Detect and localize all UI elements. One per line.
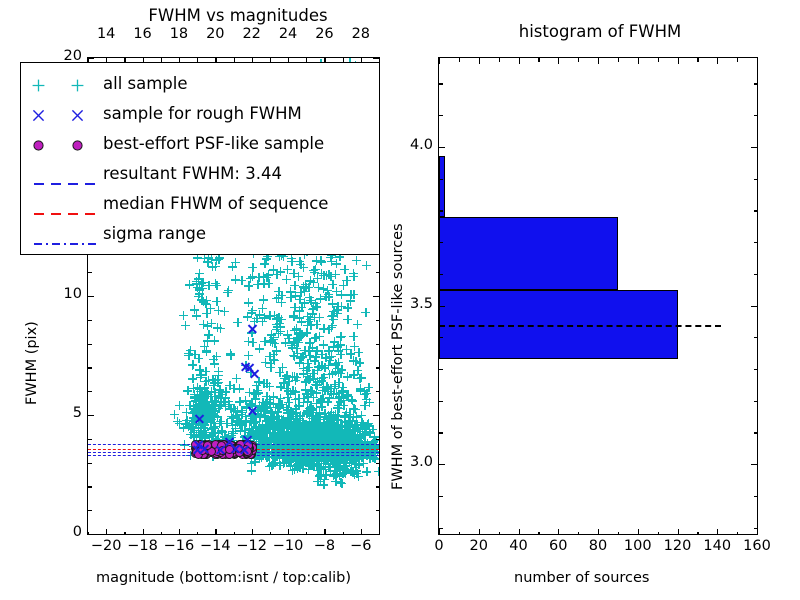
data-point-all-sample — [291, 376, 300, 385]
tick-mark-left-minor — [439, 337, 443, 338]
data-point-all-sample — [203, 337, 212, 346]
tick-mark-bottom — [479, 529, 480, 535]
scatter-x-tick-label: −16 — [160, 538, 198, 554]
data-point-all-sample — [248, 263, 257, 272]
histogram-x-tick-label: 160 — [736, 538, 778, 554]
tick-mark-top-minor — [618, 58, 619, 62]
tick-mark-right-minor — [754, 115, 758, 116]
data-point-all-sample — [303, 321, 312, 330]
data-point-all-sample — [342, 392, 351, 401]
legend-marker-key — [29, 192, 103, 214]
tick-mark-top-minor — [658, 58, 659, 62]
data-point-all-sample — [259, 379, 268, 388]
legend-item-2: best-effort PSF-like sample — [29, 128, 371, 158]
tick-mark-bottom — [678, 529, 679, 535]
data-point-all-sample — [301, 280, 310, 289]
dashed-line-icon — [33, 171, 99, 175]
scatter-x-tick-label: −14 — [196, 538, 234, 554]
plus-icon — [71, 77, 84, 90]
tick-mark-left-minor — [439, 528, 443, 529]
data-point-rough-fwhm — [215, 444, 226, 455]
histogram-bars — [439, 58, 757, 534]
tick-mark-bottom-minor — [197, 532, 198, 536]
data-point-all-sample — [327, 352, 336, 361]
scatter-panel-title: FWHM vs magnitudes — [88, 6, 388, 25]
legend-marker-key — [29, 132, 103, 154]
histogram-bar — [439, 156, 445, 216]
scatter-top-tick-label: 20 — [202, 26, 228, 42]
tick-mark-left — [88, 58, 94, 59]
legend-item-label: all sample — [103, 74, 188, 93]
scatter-top-tick-label: 28 — [348, 26, 374, 42]
legend-item-5: sigma range — [29, 218, 371, 248]
tick-mark-right-minor — [754, 528, 758, 529]
tick-mark-top — [519, 58, 520, 64]
tick-mark-right-minor — [376, 391, 380, 392]
data-point-all-sample — [301, 377, 310, 386]
dot-icon — [32, 137, 45, 150]
histogram-x-tick-label: 140 — [696, 538, 738, 554]
tick-mark-left-minor — [439, 210, 443, 211]
tick-mark-top-minor — [578, 58, 579, 62]
x-icon — [32, 107, 45, 120]
scatter-y-tick-label: 10 — [40, 286, 82, 302]
x-icon — [71, 107, 84, 120]
tick-mark-right-minor — [754, 369, 758, 370]
data-point-all-sample — [314, 431, 323, 440]
tick-mark-right-minor — [754, 274, 758, 275]
data-point-all-sample — [309, 278, 318, 287]
legend-item-3: resultant FWHM: 3.44 — [29, 158, 371, 188]
tick-mark-top-minor — [161, 58, 162, 62]
data-point-all-sample — [175, 419, 184, 428]
scatter-top-tick-label: 22 — [239, 26, 265, 42]
data-point-all-sample — [199, 297, 208, 306]
data-point-all-sample — [342, 408, 351, 417]
scatter-y-tick-label: 0 — [40, 524, 82, 540]
tick-mark-top-minor — [459, 58, 460, 62]
tick-mark-bottom — [439, 529, 440, 535]
plus-icon — [32, 77, 45, 90]
legend-marker-key — [29, 222, 103, 244]
tick-mark-bottom-minor — [379, 532, 380, 536]
data-point-all-sample — [362, 261, 371, 270]
tick-mark-left-minor — [439, 401, 443, 402]
data-point-all-sample — [364, 383, 373, 392]
data-point-all-sample — [199, 320, 208, 329]
tick-mark-right-minor — [376, 320, 380, 321]
data-point-all-sample — [170, 410, 179, 419]
tick-mark-left-minor — [439, 369, 443, 370]
tick-mark-left-minor — [88, 344, 92, 345]
tick-mark-bottom-minor — [578, 532, 579, 536]
tick-mark-right-minor — [754, 242, 758, 243]
tick-mark-right-minor — [754, 210, 758, 211]
data-point-all-sample — [233, 318, 242, 327]
data-point-all-sample — [244, 337, 253, 346]
tick-mark-bottom — [215, 529, 216, 535]
tick-mark-left-minor — [88, 391, 92, 392]
data-point-all-sample — [349, 332, 358, 341]
legend-item-label: sample for rough FWHM — [103, 104, 302, 123]
scatter-top-tick-label: 18 — [166, 26, 192, 42]
tick-mark-right-minor — [376, 486, 380, 487]
histogram-y-tick-label: 4.0 — [389, 137, 433, 153]
tick-mark-right-minor — [376, 510, 380, 511]
data-point-all-sample — [337, 302, 346, 311]
tick-mark-bottom — [361, 529, 362, 535]
data-point-all-sample — [330, 382, 339, 391]
tick-mark-right-minor — [376, 463, 380, 464]
data-point-all-sample — [374, 467, 379, 476]
data-point-all-sample — [353, 320, 362, 329]
data-point-all-sample — [312, 256, 321, 265]
tick-mark-top — [439, 58, 440, 64]
data-point-all-sample — [255, 422, 264, 431]
data-point-all-sample — [357, 373, 366, 382]
data-point-all-sample — [210, 359, 219, 368]
tick-mark-bottom-minor — [499, 532, 500, 536]
tick-mark-right-minor — [376, 272, 380, 273]
data-point-all-sample — [331, 477, 340, 486]
histogram-resultant-fwhm-line — [439, 325, 721, 327]
data-point-all-sample — [320, 475, 329, 484]
data-point-all-sample — [225, 381, 234, 390]
legend-marker-key — [29, 102, 103, 124]
data-point-all-sample — [357, 421, 366, 430]
tick-mark-top-minor — [697, 58, 698, 62]
tick-mark-bottom — [757, 529, 758, 535]
data-point-all-sample — [244, 351, 253, 360]
scatter-legend: all sample sample for rough FWHM best-ef… — [20, 62, 380, 255]
data-point-all-sample — [354, 348, 363, 357]
data-point-all-sample — [289, 312, 298, 321]
tick-mark-bottom-minor — [124, 532, 125, 536]
tick-mark-top-minor — [343, 58, 344, 62]
data-point-all-sample — [309, 393, 318, 402]
legend-item-0: all sample — [29, 68, 371, 98]
data-point-all-sample — [231, 424, 240, 433]
tick-mark-bottom — [252, 529, 253, 535]
data-point-all-sample — [299, 263, 308, 272]
tick-mark-bottom-minor — [538, 532, 539, 536]
tick-mark-bottom-minor — [306, 532, 307, 536]
data-point-all-sample — [319, 324, 328, 333]
tick-mark-left-minor — [439, 83, 443, 84]
tick-mark-right-minor — [754, 432, 758, 433]
data-point-all-sample — [352, 256, 361, 265]
tick-mark-bottom — [324, 529, 325, 535]
data-point-all-sample — [361, 308, 370, 317]
data-point-all-sample — [208, 262, 217, 271]
data-point-all-sample — [352, 466, 361, 475]
tick-mark-left-minor — [439, 179, 443, 180]
data-point-all-sample — [310, 313, 319, 322]
data-point-all-sample — [327, 435, 336, 444]
data-point-all-sample — [231, 275, 240, 284]
legend-item-4: median FHWM of sequence — [29, 188, 371, 218]
tick-mark-right — [373, 534, 379, 535]
tick-mark-right — [751, 306, 757, 307]
tick-mark-left — [88, 534, 94, 535]
data-point-all-sample — [278, 363, 287, 372]
legend-item-label: sigma range — [103, 224, 206, 243]
tick-mark-right-minor — [754, 496, 758, 497]
tick-mark-top — [479, 58, 480, 64]
scatter-top-tick-label: 16 — [130, 26, 156, 42]
histogram-x-tick-label: 20 — [458, 538, 500, 554]
histogram-x-tick-label: 100 — [617, 538, 659, 554]
histogram-x-tick-label: 0 — [418, 538, 460, 554]
scatter-x-tick-label: −10 — [269, 538, 307, 554]
dashdot-line-icon — [33, 231, 99, 235]
tick-mark-bottom — [288, 529, 289, 535]
tick-mark-top — [717, 58, 718, 64]
legend-item-label: resultant FWHM: 3.44 — [103, 164, 282, 183]
tick-mark-left — [439, 306, 445, 307]
scatter-x-axis-label: magnitude (bottom:isnt / top:calib) — [96, 570, 351, 586]
data-point-all-sample — [266, 418, 275, 427]
data-point-all-sample — [220, 307, 229, 316]
scatter-panel: FWHM vs magnitudes 1416182022242628 −20−… — [0, 0, 400, 600]
tick-mark-top-minor — [234, 58, 235, 62]
tick-mark-right — [751, 147, 757, 148]
data-point-all-sample — [247, 466, 256, 475]
data-point-all-sample — [309, 304, 318, 313]
data-point-all-sample — [302, 408, 311, 417]
data-point-all-sample — [317, 374, 326, 383]
data-point-rough-fwhm — [249, 368, 260, 379]
tick-mark-right-minor — [376, 344, 380, 345]
tick-mark-right — [751, 464, 757, 465]
tick-mark-top-minor — [124, 58, 125, 62]
tick-mark-right-minor — [754, 179, 758, 180]
tick-mark-bottom-minor — [658, 532, 659, 536]
data-point-all-sample — [224, 286, 233, 295]
tick-mark-right — [373, 58, 379, 59]
legend-item-1: sample for rough FWHM — [29, 98, 371, 128]
tick-mark-left-minor — [88, 320, 92, 321]
data-point-all-sample — [312, 346, 321, 355]
tick-mark-top-minor — [306, 58, 307, 62]
data-point-all-sample — [302, 430, 311, 439]
scatter-x-tick-label: −6 — [342, 538, 380, 554]
scatter-x-tick-label: −8 — [305, 538, 343, 554]
scatter-y-tick-label: 5 — [40, 405, 82, 421]
data-point-all-sample — [315, 410, 324, 419]
data-point-all-sample — [258, 304, 267, 313]
histogram-x-tick-label: 60 — [537, 538, 579, 554]
tick-mark-bottom-minor — [737, 532, 738, 536]
data-point-all-sample — [298, 464, 307, 473]
legend-item-label: median FHWM of sequence — [103, 194, 328, 213]
dashed-line-icon — [33, 201, 99, 205]
data-point-all-sample — [216, 417, 225, 426]
histogram-x-tick-label: 80 — [577, 538, 619, 554]
tick-mark-bottom-minor — [697, 532, 698, 536]
tick-mark-bottom-minor — [234, 532, 235, 536]
histogram-panel: histogram of FWHM 020406080100120140160 … — [400, 0, 800, 600]
dot-icon — [71, 137, 84, 150]
histogram-panel-title: histogram of FWHM — [430, 22, 770, 41]
data-point-rough-fwhm — [247, 323, 258, 334]
data-point-all-sample — [331, 463, 340, 472]
data-point-rough-fwhm — [194, 413, 205, 424]
tick-mark-bottom — [106, 529, 107, 535]
tick-mark-left-minor — [88, 439, 92, 440]
data-point-all-sample — [257, 453, 266, 462]
tick-mark-left-minor — [439, 115, 443, 116]
data-point-all-sample — [221, 402, 230, 411]
histogram-x-axis-label: number of sources — [514, 570, 650, 586]
legend-marker-key — [29, 162, 103, 184]
tick-mark-bottom-minor — [161, 532, 162, 536]
data-point-all-sample — [321, 292, 330, 301]
tick-mark-bottom — [558, 529, 559, 535]
tick-mark-top-minor — [379, 58, 380, 62]
tick-mark-left-minor — [88, 510, 92, 511]
tick-mark-left — [439, 464, 445, 465]
tick-mark-top — [638, 58, 639, 64]
data-point-all-sample — [269, 441, 278, 450]
scatter-x-tick-label: −20 — [87, 538, 125, 554]
data-point-all-sample — [318, 394, 327, 403]
data-point-all-sample — [294, 394, 303, 403]
data-point-all-sample — [295, 358, 304, 367]
data-point-all-sample — [283, 405, 292, 414]
scatter-top-tick-label: 26 — [311, 26, 337, 42]
histogram-y-axis-label: FWHM of best-effort PSF-like sources — [390, 223, 406, 490]
tick-mark-top-minor — [499, 58, 500, 62]
data-point-all-sample — [259, 295, 268, 304]
tick-mark-top-minor — [270, 58, 271, 62]
data-point-all-sample — [309, 266, 318, 275]
data-point-all-sample — [202, 430, 211, 439]
data-point-all-sample — [188, 360, 197, 369]
data-point-all-sample — [179, 311, 188, 320]
scatter-x-tick-label: −12 — [233, 538, 271, 554]
data-point-all-sample — [355, 358, 364, 367]
tick-mark-top-minor — [737, 58, 738, 62]
tick-mark-right — [373, 415, 379, 416]
tick-mark-right-minor — [376, 439, 380, 440]
tick-mark-right — [373, 296, 379, 297]
data-point-all-sample — [269, 355, 278, 364]
data-point-all-sample — [349, 370, 358, 379]
tick-mark-left-minor — [88, 486, 92, 487]
data-point-all-sample — [199, 278, 208, 287]
data-point-all-sample — [276, 423, 285, 432]
data-point-all-sample — [289, 337, 298, 346]
data-point-all-sample — [213, 323, 222, 332]
tick-mark-left-minor — [439, 496, 443, 497]
data-point-all-sample — [332, 259, 341, 268]
data-point-all-sample — [244, 298, 253, 307]
data-point-all-sample — [252, 314, 261, 323]
tick-mark-right-minor — [754, 337, 758, 338]
scatter-top-tick-label: 24 — [275, 26, 301, 42]
data-point-all-sample — [201, 367, 210, 376]
data-point-all-sample — [297, 303, 306, 312]
data-point-all-sample — [282, 275, 291, 284]
data-point-all-sample — [202, 347, 211, 356]
tick-mark-bottom — [598, 529, 599, 535]
tick-mark-bottom — [179, 529, 180, 535]
data-point-all-sample — [338, 383, 347, 392]
tick-mark-right-minor — [754, 401, 758, 402]
data-point-all-sample — [315, 332, 324, 341]
tick-mark-bottom-minor — [618, 532, 619, 536]
data-point-all-sample — [337, 290, 346, 299]
tick-mark-bottom-minor — [343, 532, 344, 536]
scatter-y-axis-label: FWHM (pix) — [24, 321, 40, 405]
tick-mark-left — [88, 415, 94, 416]
scatter-top-tick-label: 14 — [93, 26, 119, 42]
tick-mark-top — [757, 58, 758, 64]
scatter-x-tick-label: −18 — [124, 538, 162, 554]
data-point-all-sample — [181, 321, 190, 330]
data-point-all-sample — [342, 276, 351, 285]
data-point-rough-fwhm — [239, 444, 250, 455]
data-point-rough-fwhm — [247, 405, 258, 416]
data-point-all-sample — [266, 336, 275, 345]
tick-mark-left-minor — [439, 242, 443, 243]
data-point-all-sample — [304, 363, 313, 372]
data-point-all-sample — [343, 315, 352, 324]
data-point-rough-fwhm — [192, 444, 203, 455]
data-point-all-sample — [190, 350, 199, 359]
data-point-all-sample — [277, 291, 286, 300]
tick-mark-bottom — [717, 529, 718, 535]
data-point-all-sample — [188, 374, 197, 383]
data-point-all-sample — [280, 374, 289, 383]
data-point-all-sample — [341, 465, 350, 474]
tick-mark-bottom — [638, 529, 639, 535]
tick-mark-left — [439, 147, 445, 148]
data-point-all-sample — [326, 411, 335, 420]
data-point-all-sample — [270, 311, 279, 320]
data-point-all-sample — [320, 363, 329, 372]
tick-mark-left-minor — [88, 272, 92, 273]
tick-mark-top — [598, 58, 599, 64]
tick-mark-bottom-minor — [270, 532, 271, 536]
data-point-all-sample — [285, 453, 294, 462]
data-point-all-sample — [201, 402, 210, 411]
data-point-all-sample — [362, 467, 371, 476]
tick-mark-top — [558, 58, 559, 64]
tick-mark-right-minor — [376, 367, 380, 368]
legend-item-label: best-effort PSF-like sample — [103, 134, 324, 153]
histogram-x-tick-label: 120 — [657, 538, 699, 554]
data-point-all-sample — [226, 349, 235, 358]
data-point-all-sample — [329, 342, 338, 351]
data-point-all-sample — [346, 296, 355, 305]
tick-mark-right-minor — [754, 83, 758, 84]
data-point-all-sample — [259, 272, 268, 281]
data-point-all-sample — [212, 281, 221, 290]
histogram-bar — [439, 217, 618, 290]
data-point-all-sample — [244, 281, 253, 290]
data-point-all-sample — [313, 462, 322, 471]
data-point-all-sample — [235, 384, 244, 393]
tick-mark-left — [88, 296, 94, 297]
tick-mark-top-minor — [538, 58, 539, 62]
data-point-all-sample — [365, 398, 374, 407]
tick-mark-top — [678, 58, 679, 64]
tick-mark-left-minor — [439, 432, 443, 433]
data-point-all-sample — [305, 338, 314, 347]
data-point-all-sample — [281, 433, 290, 442]
